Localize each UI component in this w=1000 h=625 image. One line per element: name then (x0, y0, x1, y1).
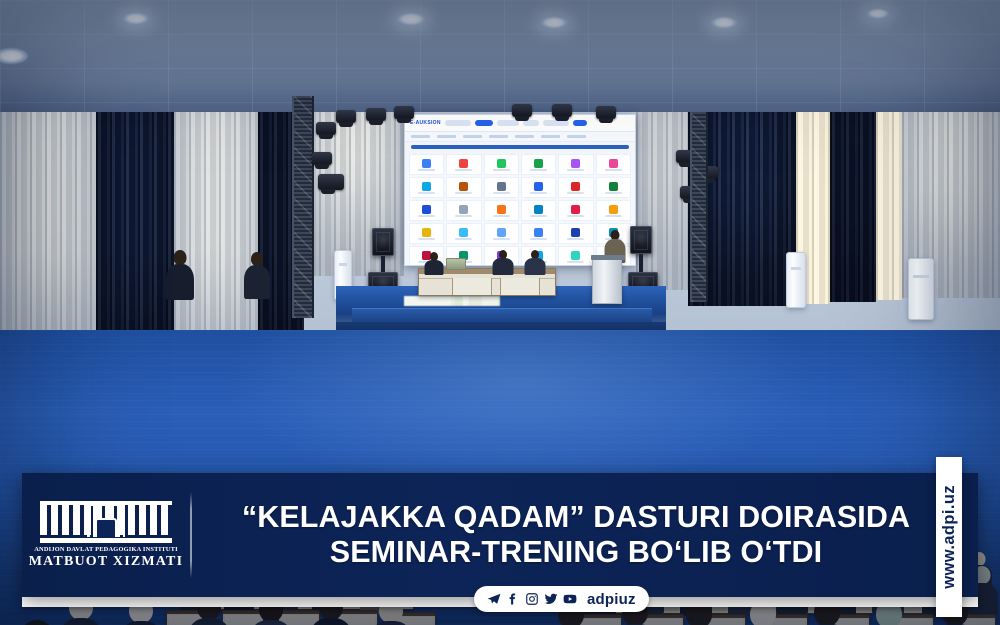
ceiling-light (540, 16, 568, 29)
ceiling-light (710, 16, 738, 29)
youtube-icon[interactable] (563, 592, 577, 606)
stage-light (312, 152, 332, 165)
hall-ceiling (0, 0, 1000, 112)
stage-light (596, 106, 616, 119)
social-handles-pill[interactable]: adpiuz (474, 586, 649, 612)
press-logo-name: MATBUOT XIZMATI (29, 554, 184, 570)
stage-light (512, 104, 532, 117)
stage-light (316, 122, 336, 135)
ceiling-light (122, 12, 150, 25)
pa-speaker (630, 226, 652, 254)
screen-accent-bar (411, 145, 629, 149)
screenshot-root: ANDIJON DAVLAT PEDAGOGIKA INSTITUTI E-AU… (0, 0, 1000, 625)
stage-light (318, 174, 344, 190)
headline-line-1: “KELAJAKKA QADAM” DASTURI DOIRASIDA (242, 500, 910, 534)
screen-site-nav (405, 132, 635, 142)
website-url-strip[interactable]: www.adpi.uz (936, 457, 962, 617)
ceiling-light (396, 12, 426, 26)
attendee (6, 620, 68, 625)
screen-category-grid (405, 152, 635, 266)
stage-light (366, 108, 386, 121)
institute-building-icon (40, 501, 172, 543)
news-banner: ANDIJON DAVLAT PEDAGOGIKA INSTITUTI MATB… (22, 473, 978, 597)
social-handle: adpiuz (587, 591, 636, 608)
website-url: www.adpi.uz (940, 485, 959, 589)
instagram-icon[interactable] (525, 592, 539, 606)
banner-headline: “KELAJAKKA QADAM” DASTURI DOIRASIDA SEMI… (210, 500, 978, 571)
facebook-icon[interactable] (506, 592, 520, 606)
stage-light (336, 110, 356, 123)
telegram-icon[interactable] (487, 592, 501, 606)
ceiling-light (866, 8, 890, 19)
twitter-icon[interactable] (544, 592, 558, 606)
press-service-logo: ANDIJON DAVLAT PEDAGOGIKA INSTITUTI MATB… (22, 501, 190, 570)
press-logo-caption: ANDIJON DAVLAT PEDAGOGIKA INSTITUTI (34, 546, 178, 553)
banner-divider (190, 492, 192, 578)
projection-screen: E-AUKSION (404, 114, 636, 266)
screen-login-button (475, 120, 493, 126)
stage-light (394, 106, 414, 119)
stage-light (552, 104, 572, 117)
pa-speaker (372, 228, 394, 256)
screen-site-brand: E-AUKSION (410, 120, 441, 126)
headline-line-2: SEMINAR-TRENING BO‘LIB O‘TDI (210, 535, 942, 570)
